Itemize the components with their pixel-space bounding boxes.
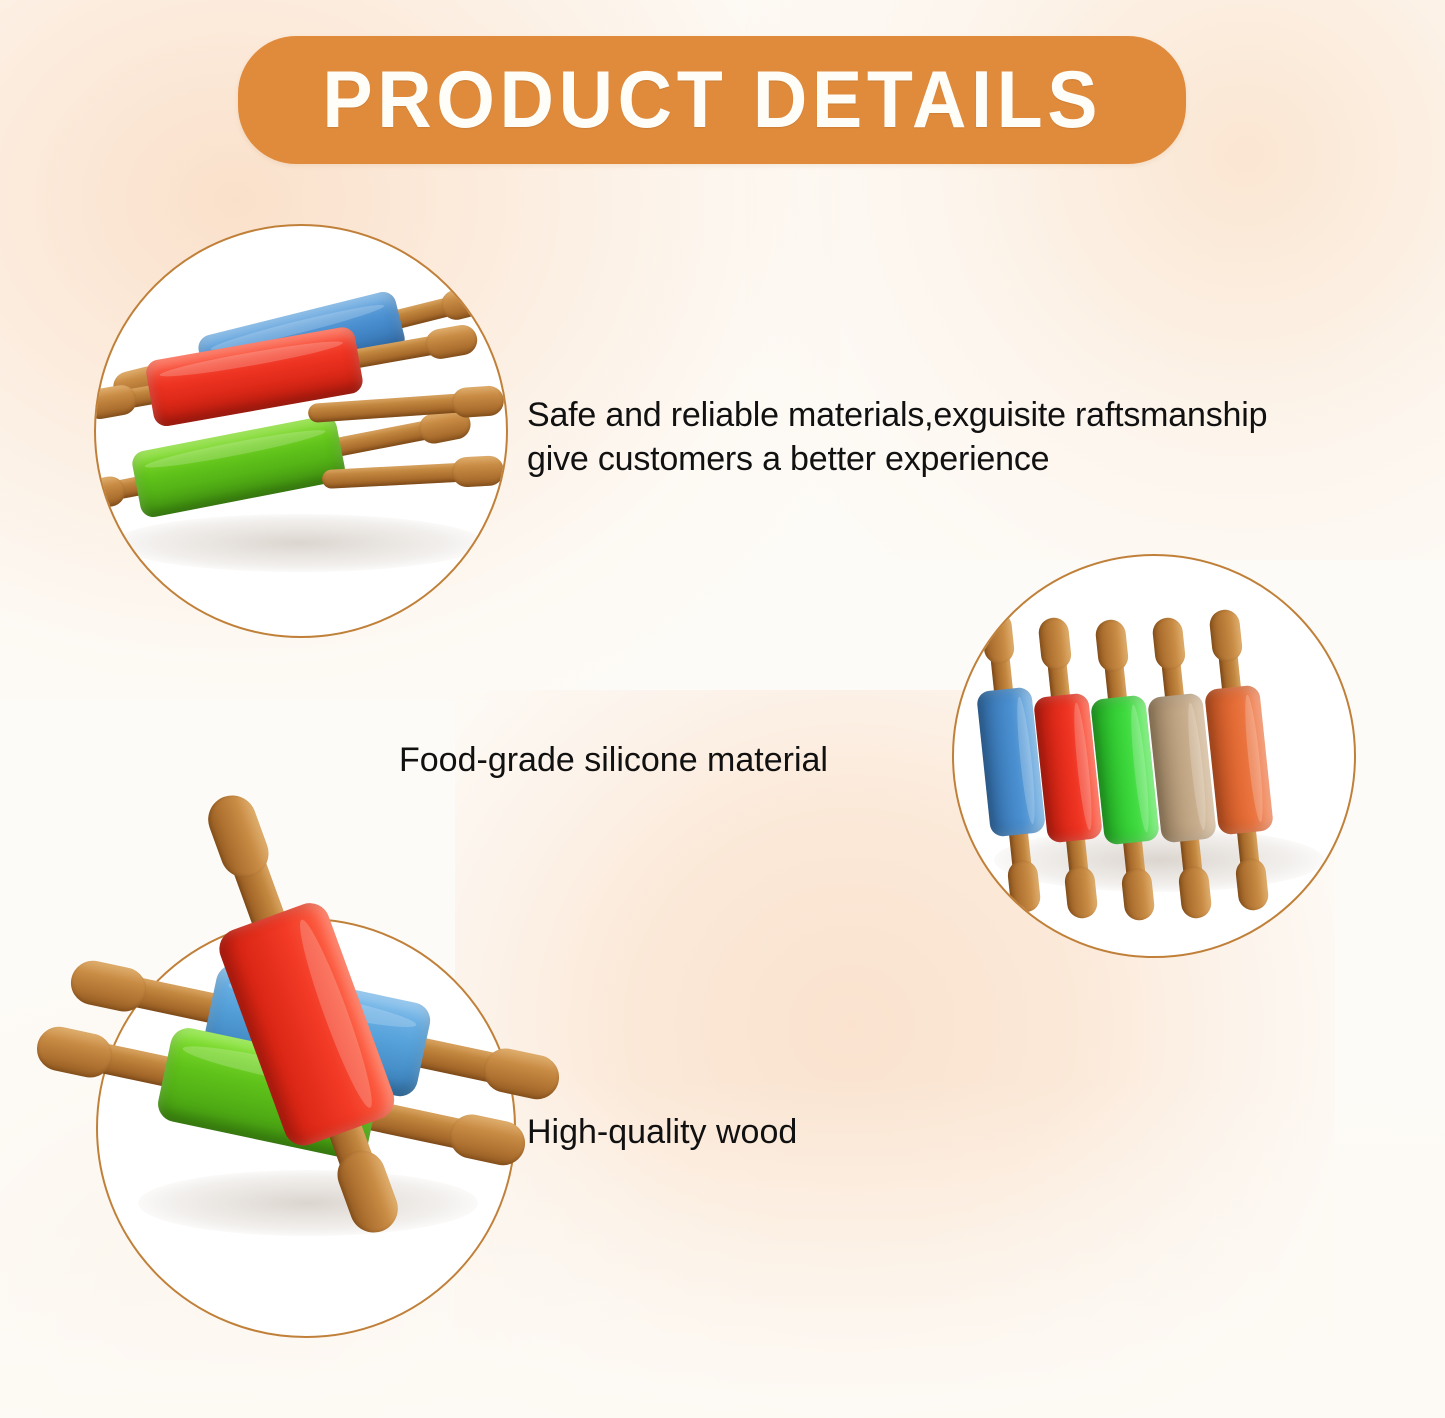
feature-image-silicone: [952, 554, 1356, 958]
pin-knob-left: [1094, 618, 1129, 673]
rolling-pins-closeup-artwork: [98, 920, 514, 1336]
pin-knob-right: [1006, 859, 1041, 914]
pin-knob-left: [1037, 616, 1072, 671]
pin-knob-right: [451, 385, 505, 419]
feature-caption-materials: Safe and reliable materials,exguisite ra…: [527, 393, 1432, 481]
feature-caption-silicone: Food-grade silicone material: [399, 738, 959, 782]
rolling-pins-stacked-artwork: [96, 226, 506, 636]
pin-knob-right: [1177, 865, 1212, 920]
pin-knob-right: [1063, 865, 1098, 920]
page-title: PRODUCT DETAILS: [322, 60, 1102, 141]
feature-image-wood: [96, 918, 516, 1338]
product-details-infographic: PRODUCT DETAILS: [0, 0, 1445, 1418]
pin-knob-right: [451, 455, 504, 488]
pin-knob-left: [33, 1023, 116, 1082]
pin-group-shadow: [114, 514, 484, 572]
pin-knob-right: [423, 323, 479, 362]
feature-image-materials: [94, 224, 508, 638]
feature-caption-wood: High-quality wood: [527, 1110, 947, 1154]
pin-knob-right: [1234, 857, 1269, 912]
pin-knob-left: [1208, 608, 1243, 663]
pin-knob-left: [1151, 616, 1186, 671]
rolling-pins-row-artwork: [954, 556, 1354, 956]
header-banner: PRODUCT DETAILS: [238, 36, 1186, 164]
pin-knob-right: [1120, 867, 1155, 922]
pin-knob-left: [980, 610, 1015, 665]
